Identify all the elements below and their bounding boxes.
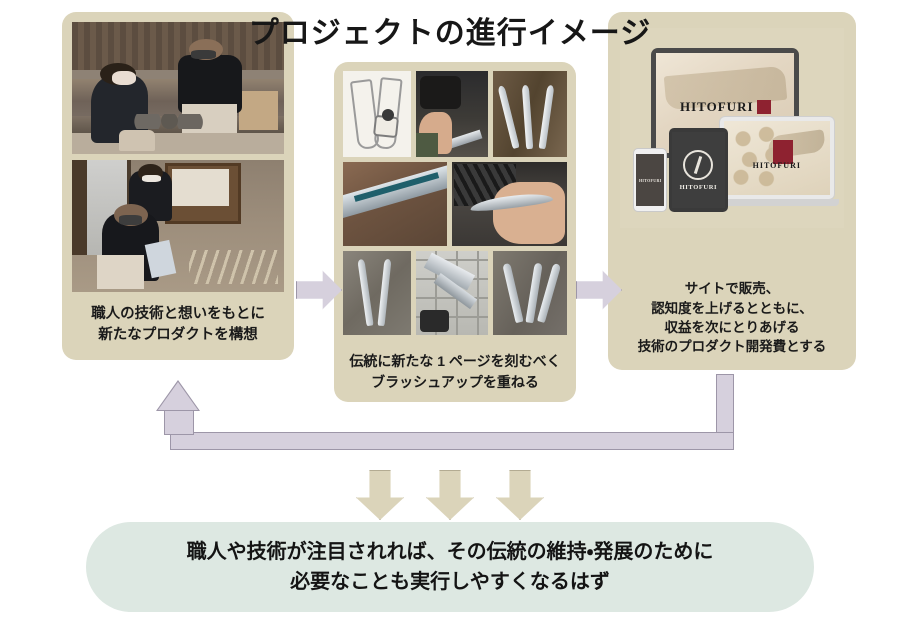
workshop-scene-2 xyxy=(72,160,284,292)
phone-screen: HITOFURI xyxy=(636,154,664,206)
brand-name: HITOFURI xyxy=(753,161,801,170)
blade-1 xyxy=(503,263,525,324)
tablet: HITOFURI xyxy=(669,128,727,212)
blade-1 xyxy=(497,85,520,149)
blade-1 xyxy=(357,259,374,327)
page-title: プロジェクトの進行イメージ xyxy=(0,8,900,52)
feedback-loop-bottom-segment xyxy=(170,432,734,450)
blade-3 xyxy=(539,85,555,149)
prototype-photo-grid xyxy=(343,71,567,340)
caption-line-1: 職人の技術と想いをもとに xyxy=(91,306,265,322)
shadow-area xyxy=(420,310,449,332)
anvil xyxy=(420,76,460,109)
cardboard-box xyxy=(239,91,277,131)
blade-edge xyxy=(343,164,447,218)
photo-two-blades-on-stone xyxy=(343,251,411,335)
brand-logo-icon xyxy=(683,150,713,180)
arrow-down-icon-3 xyxy=(496,470,544,520)
brand-name: HITOFURI xyxy=(639,178,662,183)
photo-hand-holding-curved-blade xyxy=(452,162,567,246)
brand-seal-icon xyxy=(757,100,771,114)
blade-2 xyxy=(522,85,534,149)
caption-line-2: 新たなプロダクトを構想 xyxy=(98,327,258,343)
step-caption-concept: 職人の技術と想いをもとに 新たなプロダクトを構想 xyxy=(62,304,294,346)
door-frame xyxy=(72,160,87,255)
photo-blade-macro-closeup xyxy=(343,162,447,246)
tablet-screen: HITOFURI xyxy=(672,132,724,208)
photo-grid-row-3 xyxy=(343,251,567,335)
sleeve xyxy=(416,133,438,157)
laptop: HITOFURI xyxy=(719,116,835,200)
photo-grid-row-2 xyxy=(343,162,567,246)
outcome-text: 職人や技術が注目されれば、その伝統の維持・発展のために 必要なことも実行しやすく… xyxy=(187,537,714,597)
feedback-loop-right-segment xyxy=(716,374,734,436)
smartphone: HITOFURI xyxy=(633,148,667,212)
caption-line-1: 伝統に新たな 1 ページを刻むべく xyxy=(349,353,560,369)
photo-design-sketch xyxy=(343,71,411,157)
step-caption-sell: サイトで販売、 認知度を上げるとともに、 収益を次にとりあげる 技術のプロダクト… xyxy=(608,279,856,356)
standing-craftsman-mask xyxy=(142,175,161,183)
photo-blade-on-tile-floor xyxy=(416,251,488,335)
step-caption-prototype: 伝統に新たな 1 ページを刻むべく ブラッシュアップを重ねる xyxy=(334,351,576,392)
open-palm xyxy=(493,182,564,244)
brand-name: HITOFURI xyxy=(680,184,718,191)
brand-name: HITOFURI xyxy=(680,99,754,115)
photo-finished-blades-on-stone xyxy=(493,251,567,335)
photo-hand-forging-metal xyxy=(416,71,488,157)
device-mockup-group: HITOFURI HITOFURI xyxy=(620,28,844,228)
wall-poster xyxy=(172,169,229,206)
laptop-screen: HITOFURI xyxy=(724,121,830,195)
photo-grid-row-1 xyxy=(343,71,567,157)
outcome-line-1: 職人や技術が注目されれば、その伝統の維持・発展のために xyxy=(187,541,714,563)
arrow-down-icon-2 xyxy=(426,470,474,520)
arrow-down-icon-1 xyxy=(356,470,404,520)
stool xyxy=(119,130,155,151)
caption-line-2: 認知度を上げるとともに、 xyxy=(651,301,813,316)
step-panel-concept: 職人の技術と想いをもとに 新たなプロダクトを構想 xyxy=(62,12,294,360)
down-arrow-group xyxy=(356,470,544,518)
caption-line-4: 技術のプロダクト開発費とする xyxy=(638,339,827,354)
metal-pieces xyxy=(133,114,205,129)
caption-line-2: ブラッシュアップを重ねる xyxy=(371,374,539,390)
photo-hitofuri-website-mockup: HITOFURI HITOFURI xyxy=(620,28,844,228)
caption-line-3: 収益を次にとりあげる xyxy=(665,320,800,335)
seated-craftsman-mask xyxy=(119,215,142,224)
brand-lockup-monitor: HITOFURI xyxy=(656,99,794,115)
hand-tools xyxy=(189,250,278,284)
arrow-up-icon-feedback-loop xyxy=(158,382,198,410)
visitor-mask xyxy=(112,71,135,86)
blade-2 xyxy=(378,259,392,327)
step-panel-prototype: 伝統に新たな 1 ページを刻むべく ブラッシュアップを重ねる xyxy=(334,62,576,402)
seated-craftsman-apron xyxy=(97,255,144,289)
laptop-base xyxy=(715,199,839,206)
brand-lockup-laptop: HITOFURI xyxy=(724,161,830,170)
outcome-line-2: 必要なことも実行しやすくなるはず xyxy=(187,567,714,597)
photo-three-blades-on-wood xyxy=(493,71,567,157)
step-panel-sell: HITOFURI HITOFURI xyxy=(608,12,856,370)
outcome-box: 職人や技術が注目されれば、その伝統の維持・発展のために 必要なことも実行しやすく… xyxy=(86,522,814,612)
photo-craftsman-filing-at-workbench xyxy=(72,160,284,292)
caption-line-1: サイトで販売、 xyxy=(685,281,780,296)
